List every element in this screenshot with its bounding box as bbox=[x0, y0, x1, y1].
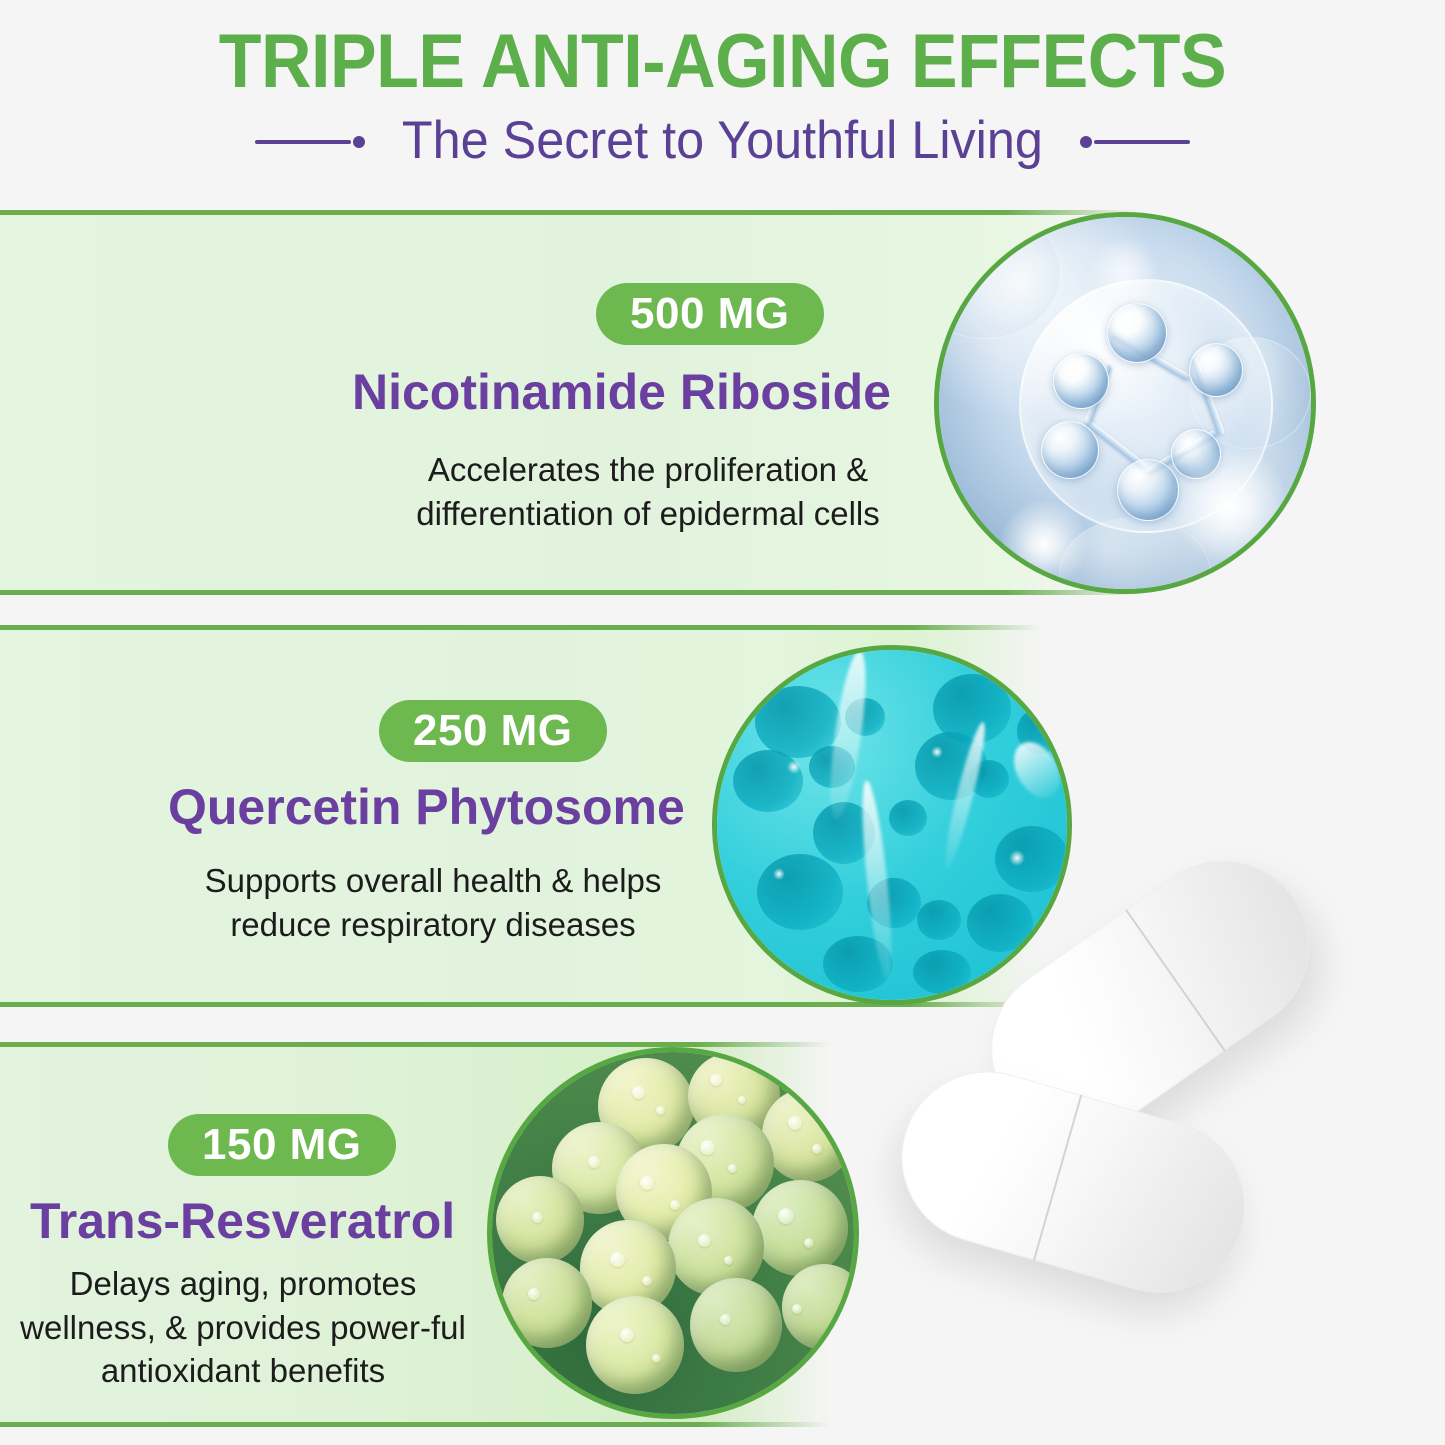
ingredient-desc-2: Supports overall health & helps reduce r… bbox=[188, 859, 678, 946]
dose-badge-3: 150 MG bbox=[168, 1114, 396, 1176]
ingredient-name-2: Quercetin Phytosome bbox=[168, 778, 685, 836]
ingredient-name-3: Trans-Resveratrol bbox=[30, 1192, 455, 1250]
molecule-bubble-image bbox=[934, 212, 1316, 594]
dash-left-decoration bbox=[255, 134, 365, 148]
page-subtitle: The Secret to Youthful Living bbox=[402, 110, 1043, 171]
ingredient-desc-3: Delays aging, promotes wellness, & provi… bbox=[12, 1262, 474, 1393]
ingredient-name-1: Nicotinamide Riboside bbox=[352, 363, 891, 421]
page-title: TRIPLE ANTI-AGING EFFECTS bbox=[58, 18, 1387, 105]
dose-badge-1: 500 MG bbox=[596, 283, 824, 345]
infographic-canvas: TRIPLE ANTI-AGING EFFECTS The Secret to … bbox=[0, 0, 1445, 1445]
dash-right-decoration bbox=[1080, 134, 1190, 148]
dose-badge-2: 250 MG bbox=[379, 700, 607, 762]
ingredient-desc-1: Accelerates the proliferation & differen… bbox=[398, 448, 898, 535]
green-grapes-image bbox=[487, 1047, 859, 1419]
subtitle-row: The Secret to Youthful Living bbox=[0, 110, 1445, 171]
white-capsules-image bbox=[880, 900, 1400, 1370]
